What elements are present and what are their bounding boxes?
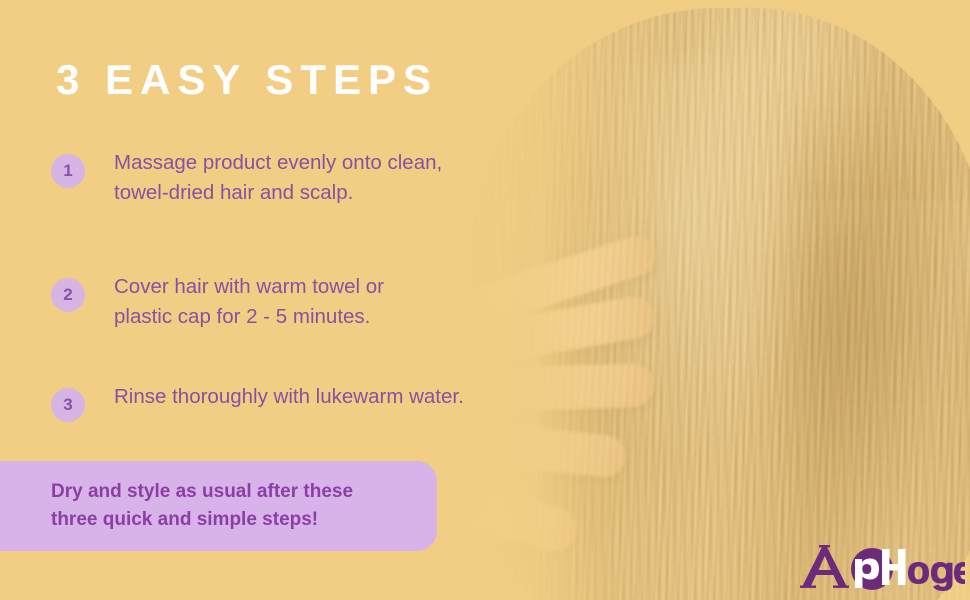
step-number-badge: 3 [51,388,85,422]
step-number-badge: 1 [51,154,85,188]
callout-text: Dry and style as usual after these three… [51,478,353,534]
callout-box: Dry and style as usual after these three… [0,461,437,551]
list-item: 3 Rinse thoroughly with lukewarm water. [51,382,611,422]
steps-list: 1 Massage product evenly onto clean, tow… [51,148,611,422]
step-number-badge: 2 [51,278,85,312]
promo-banner: 3 EASY STEPS 1 Massage product evenly on… [0,0,970,600]
step-description: Rinse thoroughly with lukewarm water. [114,382,464,412]
trademark-mark [960,579,963,582]
brand-logo [800,543,965,591]
aphogee-logo-icon [800,543,965,591]
list-item: 2 Cover hair with warm towel or plastic … [51,272,611,332]
banner-content: 3 EASY STEPS 1 Massage product evenly on… [0,0,970,600]
page-title: 3 EASY STEPS [56,59,438,101]
step-description: Cover hair with warm towel or plastic ca… [114,272,384,332]
list-item: 1 Massage product evenly onto clean, tow… [51,148,611,208]
step-description: Massage product evenly onto clean, towel… [114,148,442,208]
